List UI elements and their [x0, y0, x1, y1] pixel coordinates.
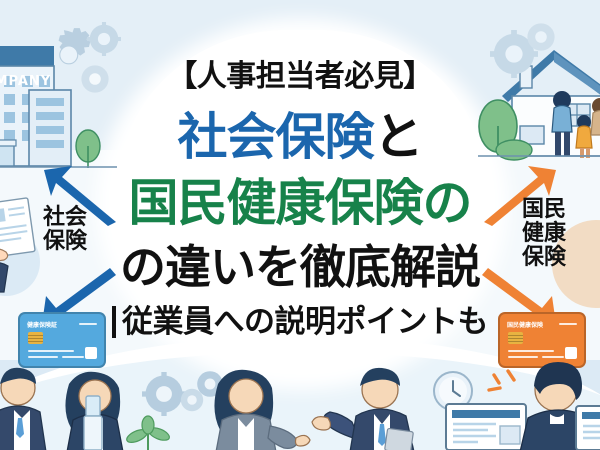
headline-block: 【人事担当者必見】 社会保険と 国民健康保険の の違いを徹底解説 従業員への説明…: [0, 0, 600, 450]
headline-line-4: 従業員への説明ポイントも: [122, 307, 488, 338]
kicker-text: 【人事担当者必見】: [0, 62, 600, 92]
thumbnail-banner: COMPANY: [0, 0, 600, 450]
headline-line-2: 国民健康保険の: [0, 178, 600, 228]
headline-line-4-wrap: 従業員への説明ポイントも: [0, 306, 600, 338]
headline-line-1: 社会保険と: [0, 112, 600, 162]
headline-accent-bar: [112, 306, 116, 338]
headline-line-3: の違いを徹底解説: [0, 244, 600, 290]
headline-line-1-black: と: [374, 108, 423, 166]
headline-line-1-blue: 社会保険: [178, 108, 374, 166]
